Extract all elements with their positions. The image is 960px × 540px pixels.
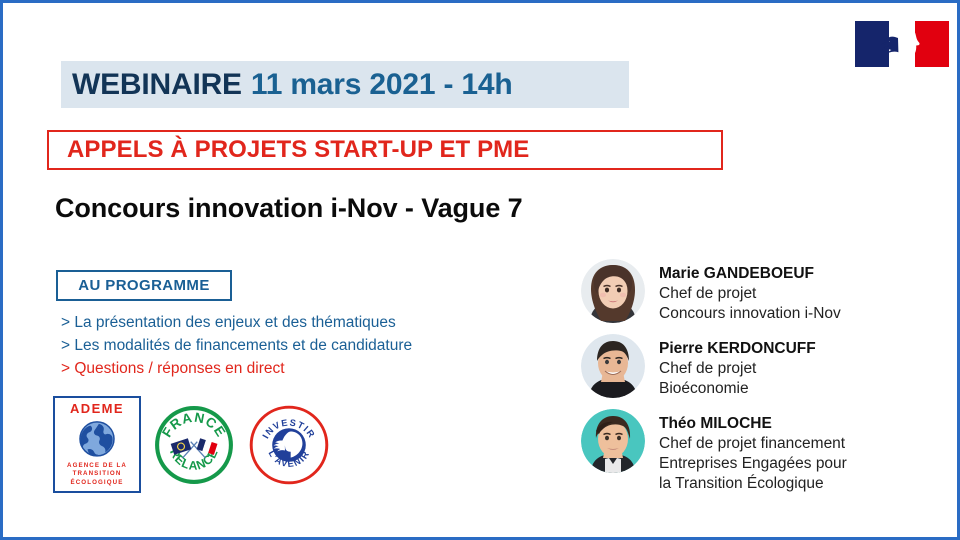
ademe-tagline: AGENCE DE LA TRANSITION ÉCOLOGIQUE — [67, 462, 127, 487]
marianne-silhouette-icon — [875, 21, 935, 67]
webinar-slide: WEBINAIRE 11 mars 2021 - 14h APPELS À PR… — [0, 0, 960, 540]
speaker-info: Pierre KERDONCUFF Chef de projet Bioécon… — [659, 334, 816, 399]
ademe-name-label: ADEME — [70, 402, 124, 415]
programme-list: > La présentation des enjeux et des thém… — [61, 311, 531, 380]
list-item: Marie GANDEBOEUF Chef de projet Concours… — [581, 259, 951, 324]
avatar — [581, 409, 645, 473]
flag-white-band — [889, 21, 915, 67]
list-item: > La présentation des enjeux et des thém… — [61, 311, 531, 334]
avatar — [581, 334, 645, 398]
list-item: > Les modalités de financements et de ca… — [61, 334, 531, 357]
call-for-projects-box: APPELS À PROJETS START-UP ET PME — [47, 130, 723, 170]
speaker-info: Théo MILOCHE Chef de projet financement … — [659, 409, 847, 494]
page-title: Concours innovation i-Nov - Vague 7 — [55, 193, 523, 224]
speaker-org-cont: la Transition Écologique — [659, 474, 847, 494]
list-item: > Questions / réponses en direct — [61, 357, 531, 380]
investir-avenir-logo: INVESTIR L'AVENIR — [247, 403, 331, 487]
speaker-role: Chef de projet — [659, 359, 816, 379]
call-for-projects-text: APPELS À PROJETS START-UP ET PME — [67, 136, 529, 164]
programme-heading-label: AU PROGRAMME — [78, 277, 209, 294]
republique-francaise-logo — [855, 21, 949, 67]
title-keyword: WEBINAIRE — [72, 68, 242, 102]
webinar-title-banner: WEBINAIRE 11 mars 2021 - 14h — [61, 61, 629, 108]
list-item: Pierre KERDONCUFF Chef de projet Bioécon… — [581, 334, 951, 399]
france-relance-logo: FRANCE RELANCE — [153, 404, 235, 486]
speaker-name: Marie GANDEBOEUF — [659, 264, 841, 284]
speaker-name: Théo MILOCHE — [659, 414, 847, 434]
title-datetime: 11 mars 2021 - 14h — [251, 68, 513, 102]
speaker-role: Chef de projet — [659, 284, 841, 304]
ademe-logo: ADEME AGENCE DE LA TRANSITION ÉCOLOGIQUE — [53, 396, 141, 493]
avatar — [581, 259, 645, 323]
list-item: Théo MILOCHE Chef de projet financement … — [581, 409, 951, 494]
speaker-role: Chef de projet financement — [659, 434, 847, 454]
speaker-info: Marie GANDEBOEUF Chef de projet Concours… — [659, 259, 841, 324]
globe-icon — [78, 420, 116, 458]
speaker-org: Entreprises Engagées pour — [659, 454, 847, 474]
programme-heading-box: AU PROGRAMME — [56, 270, 232, 301]
speaker-name: Pierre KERDONCUFF — [659, 339, 816, 359]
partner-logos: ADEME AGENCE DE LA TRANSITION ÉCOLOGIQUE — [53, 396, 331, 493]
speaker-org: Bioéconomie — [659, 379, 816, 399]
speaker-org: Concours innovation i-Nov — [659, 304, 841, 324]
speakers-list: Marie GANDEBOEUF Chef de projet Concours… — [581, 259, 951, 494]
